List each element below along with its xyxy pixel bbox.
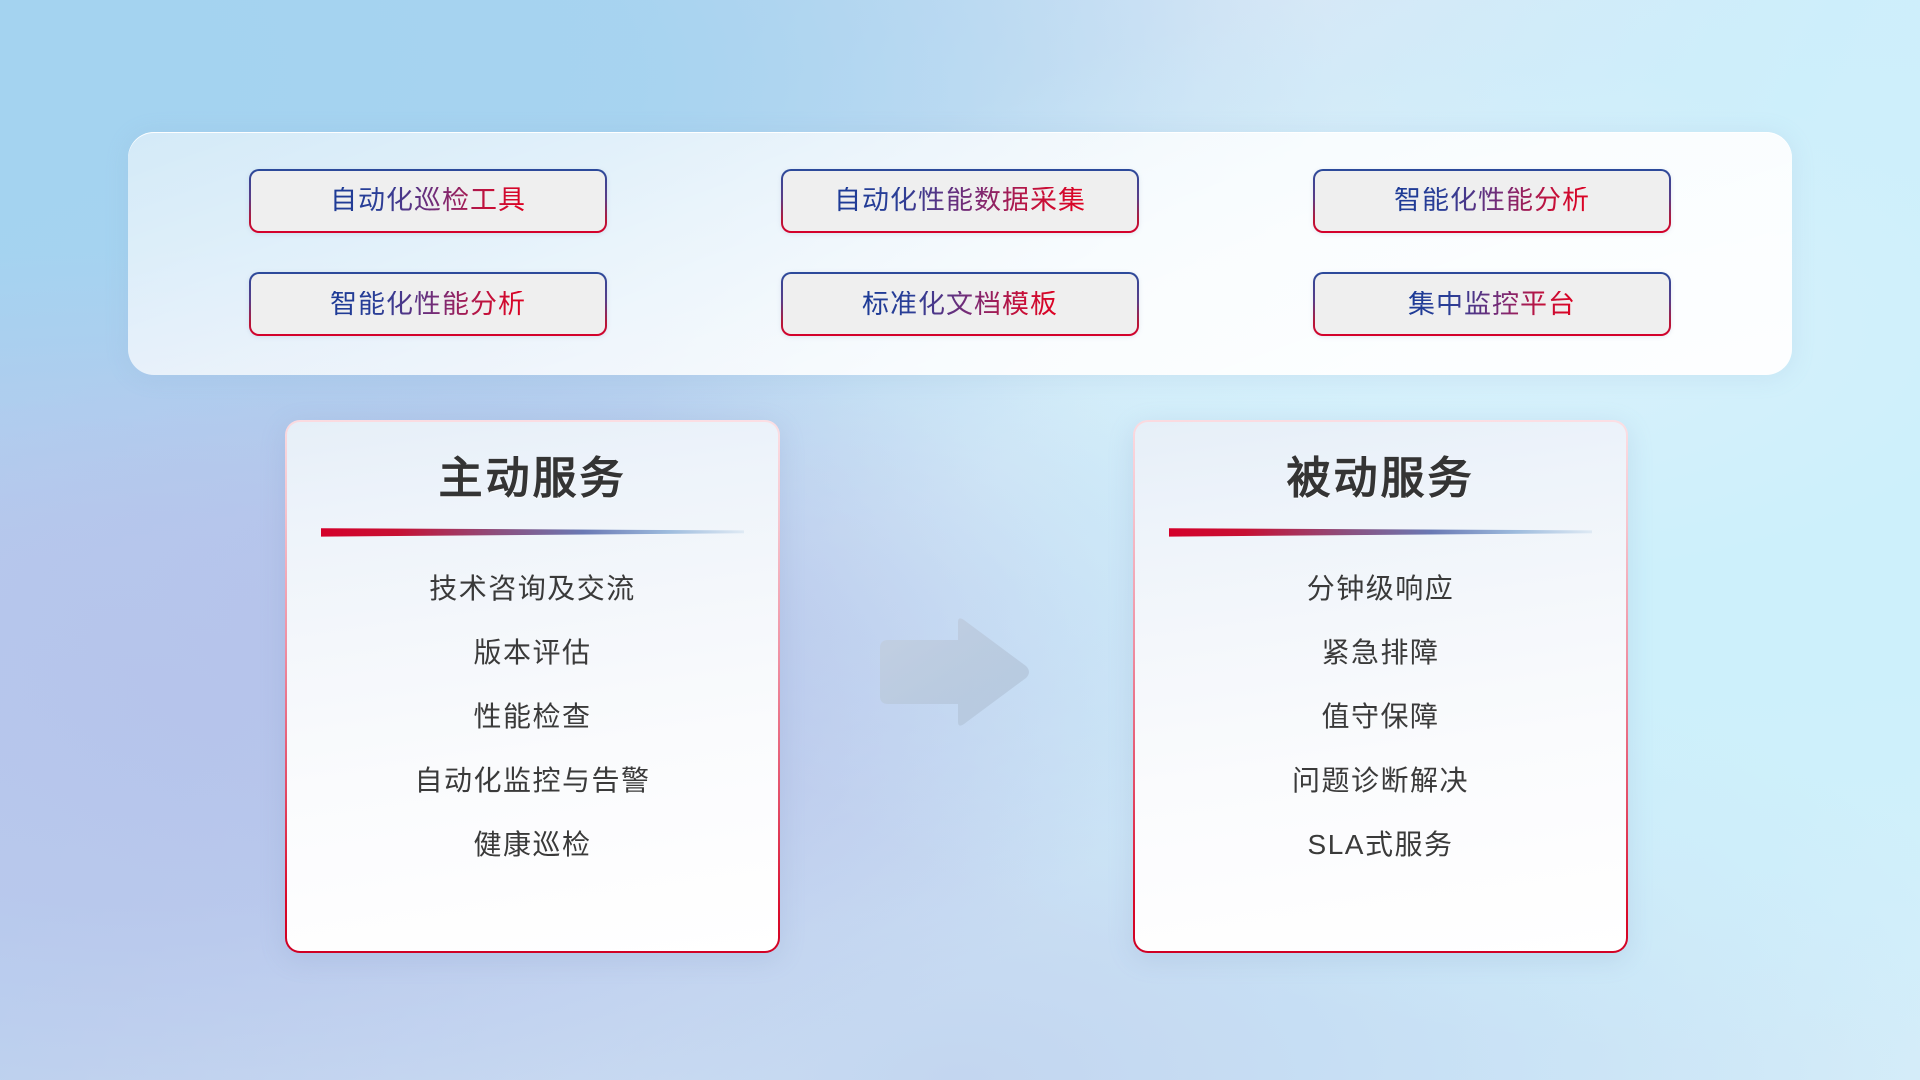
tag-label: 自动化巡检工具	[330, 187, 526, 214]
list-item: 分钟级响应	[1307, 575, 1455, 603]
tag-pill-inner: 智能化性能分析	[251, 274, 605, 334]
list-item: 值守保障	[1321, 703, 1439, 731]
list-item: 紧急排障	[1321, 639, 1439, 667]
tag-pill[interactable]: 标准化文档模板	[781, 272, 1139, 336]
flow-arrow-right-icon	[872, 616, 1032, 728]
list-item: 健康巡检	[473, 831, 591, 859]
card-item-list: 分钟级响应 紧急排障 值守保障 问题诊断解决 SLA式服务	[1135, 561, 1626, 951]
list-item: SLA式服务	[1308, 831, 1454, 859]
service-card-passive: 被动服务	[1133, 420, 1628, 953]
tag-pill-inner: 自动化性能数据采集	[783, 171, 1137, 231]
title-divider	[321, 525, 744, 539]
tag-pill[interactable]: 智能化性能分析	[1313, 169, 1671, 233]
tag-label: 标准化文档模板	[862, 291, 1058, 318]
card-item-list: 技术咨询及交流 版本评估 性能检查 自动化监控与告警 健康巡检	[287, 561, 778, 951]
card-title: 被动服务	[1287, 454, 1475, 505]
list-item: 问题诊断解决	[1292, 767, 1469, 795]
card-title: 主动服务	[439, 454, 627, 505]
tag-pill-inner: 标准化文档模板	[783, 274, 1137, 334]
list-item: 技术咨询及交流	[429, 575, 636, 603]
service-card-inner: 被动服务	[1135, 422, 1626, 951]
tag-pill[interactable]: 集中监控平台	[1313, 272, 1671, 336]
tag-pill[interactable]: 自动化巡检工具	[249, 169, 607, 233]
tag-pill[interactable]: 自动化性能数据采集	[781, 169, 1139, 233]
tag-label: 智能化性能分析	[1394, 187, 1590, 214]
list-item: 版本评估	[473, 639, 591, 667]
tag-pill-inner: 智能化性能分析	[1315, 171, 1669, 231]
list-item: 性能检查	[473, 703, 591, 731]
list-item: 自动化监控与告警	[414, 767, 650, 795]
tag-pill-inner: 集中监控平台	[1315, 274, 1669, 334]
tag-label: 自动化性能数据采集	[834, 187, 1086, 214]
capability-tag-panel: 自动化巡检工具 自动化性能数据采集 智能化性能分析 智能化性能分析	[128, 132, 1792, 375]
tag-grid: 自动化巡检工具 自动化性能数据采集 智能化性能分析 智能化性能分析	[128, 132, 1792, 375]
slide-canvas: 自动化巡检工具 自动化性能数据采集 智能化性能分析 智能化性能分析	[0, 0, 1920, 1080]
tag-pill[interactable]: 智能化性能分析	[249, 272, 607, 336]
tag-label: 智能化性能分析	[330, 291, 526, 318]
service-card-inner: 主动服务	[287, 422, 778, 951]
service-card-active: 主动服务	[285, 420, 780, 953]
tag-label: 集中监控平台	[1408, 291, 1576, 318]
title-divider	[1169, 525, 1592, 539]
tag-pill-inner: 自动化巡检工具	[251, 171, 605, 231]
